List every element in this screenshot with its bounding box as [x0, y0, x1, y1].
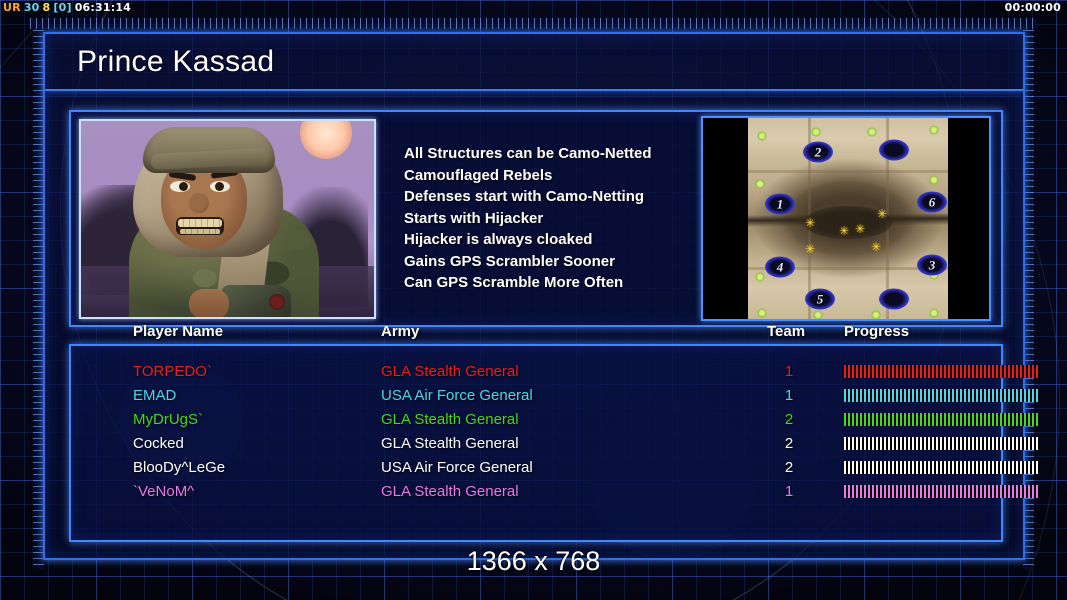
- player-army-cell: GLA Stealth General: [381, 480, 519, 504]
- map-supply-dock: [812, 128, 821, 137]
- player-progress-bar: [844, 389, 1040, 402]
- map-oil-derrick: ✳: [854, 223, 866, 235]
- map-oil-derrick: ✳: [876, 208, 888, 220]
- player-list-panel: Player Name Army Team Progress TORPEDO`G…: [69, 344, 1003, 542]
- map-start-position[interactable]: 1: [765, 194, 795, 215]
- resolution-label: 1366 x 768: [0, 548, 1067, 575]
- bonus-line: Can GPS Scramble More Often: [404, 272, 701, 294]
- player-team-cell: 1: [774, 360, 804, 384]
- table-row: CockedGLA Stealth General2: [71, 432, 1001, 456]
- map-preview: ✳✳✳✳✳✳216435: [701, 116, 991, 321]
- bonus-line: All Structures can be Camo-Netted: [404, 143, 701, 165]
- player-progress-fill: [844, 389, 1040, 402]
- player-name-cell: BlooDy^LeGe: [133, 456, 225, 480]
- map-oil-derrick: ✳: [838, 225, 850, 237]
- map-start-position[interactable]: 4: [765, 256, 795, 277]
- player-team-cell: 2: [774, 456, 804, 480]
- hud-timer: 00:00:00: [1005, 0, 1061, 15]
- map-supply-dock: [758, 308, 767, 317]
- map-supply-dock: [758, 132, 767, 141]
- general-bonus-list: All Structures can be Camo-Netted Camouf…: [404, 143, 701, 294]
- hud-tag: UR: [3, 1, 21, 14]
- general-portrait: [79, 119, 376, 319]
- map-start-position[interactable]: [879, 140, 909, 161]
- map-supply-dock: [756, 180, 765, 189]
- column-header-player-name: Player Name: [133, 319, 223, 344]
- player-progress-fill: [844, 365, 1040, 378]
- player-army-cell: USA Air Force General: [381, 456, 533, 480]
- column-header-team: Team: [767, 319, 805, 344]
- player-name-cell: TORPEDO`: [133, 360, 212, 384]
- table-row: `VeNoM^GLA Stealth General1: [71, 480, 1001, 504]
- page-title: Prince Kassad: [77, 47, 274, 77]
- player-name-cell: EMAD: [133, 384, 176, 408]
- map-supply-dock: [930, 176, 939, 185]
- portrait-teeth-upper: [178, 219, 222, 227]
- hud-left-group: UR308[0]06:31:14: [3, 0, 134, 15]
- portrait-mouth: [176, 217, 224, 235]
- portrait-nose: [189, 193, 209, 213]
- bonus-line: Defenses start with Camo-Netting: [404, 186, 701, 208]
- hud-clock: 06:31:14: [75, 1, 131, 14]
- map-start-position[interactable]: [879, 288, 909, 309]
- ruler-top: [30, 18, 1037, 29]
- map-oil-derrick: ✳: [804, 243, 816, 255]
- player-progress-bar: [844, 413, 1040, 426]
- bonus-line: Starts with Hijacker: [404, 208, 701, 230]
- player-progress-fill: [844, 413, 1040, 426]
- map-start-position[interactable]: 2: [803, 142, 833, 163]
- hud-value-1: 30: [24, 1, 40, 14]
- player-name-cell: MyDrUgS`: [133, 408, 203, 432]
- player-team-cell: 2: [774, 408, 804, 432]
- general-info-panel: All Structures can be Camo-Netted Camouf…: [69, 110, 1003, 327]
- player-army-cell: USA Air Force General: [381, 384, 533, 408]
- map-supply-dock: [756, 272, 765, 281]
- bonus-line: Gains GPS Scrambler Sooner: [404, 251, 701, 273]
- table-row: BlooDy^LeGeUSA Air Force General2: [71, 456, 1001, 480]
- table-row: TORPEDO`GLA Stealth General1: [71, 360, 1001, 384]
- player-name-cell: Cocked: [133, 432, 184, 456]
- player-name-cell: `VeNoM^: [133, 480, 194, 504]
- map-oil-derrick: ✳: [804, 217, 816, 229]
- player-progress-fill: [844, 437, 1040, 450]
- player-progress-bar: [844, 365, 1040, 378]
- table-row: MyDrUgS`GLA Stealth General2: [71, 408, 1001, 432]
- player-army-cell: GLA Stealth General: [381, 408, 519, 432]
- map-supply-dock: [868, 128, 877, 137]
- player-team-cell: 2: [774, 432, 804, 456]
- table-row: EMADUSA Air Force General1: [71, 384, 1001, 408]
- player-progress-bar: [844, 461, 1040, 474]
- hud-bracket: [0]: [53, 1, 71, 14]
- title-strip: Prince Kassad: [45, 34, 1023, 91]
- player-army-cell: GLA Stealth General: [381, 432, 519, 456]
- portrait-eye-right: [210, 181, 230, 192]
- player-army-cell: GLA Stealth General: [381, 360, 519, 384]
- hud-bar: UR308[0]06:31:14 00:00:00: [0, 0, 1067, 15]
- map-supply-dock: [930, 308, 939, 317]
- map-supply-dock: [930, 126, 939, 135]
- player-team-cell: 1: [774, 480, 804, 504]
- bonus-line: Hijacker is always cloaked: [404, 229, 701, 251]
- map-seam: [748, 170, 948, 173]
- portrait-hand: [189, 289, 229, 319]
- player-progress-fill: [844, 461, 1040, 474]
- player-team-cell: 1: [774, 384, 804, 408]
- portrait-weapon: [221, 285, 291, 319]
- player-progress-bar: [844, 485, 1040, 498]
- map-start-position[interactable]: 3: [917, 254, 947, 275]
- column-header-army: Army: [381, 319, 419, 344]
- hud-value-2: 8: [43, 1, 51, 14]
- map-start-position[interactable]: 5: [805, 288, 835, 309]
- player-progress-fill: [844, 485, 1040, 498]
- loading-screen-frame: Prince Kassad: [43, 32, 1025, 560]
- column-header-progress: Progress: [844, 319, 909, 344]
- map-start-position[interactable]: 6: [917, 192, 947, 213]
- portrait-eye-left: [170, 181, 190, 192]
- player-progress-bar: [844, 437, 1040, 450]
- map-oil-derrick: ✳: [870, 241, 882, 253]
- map-terrain: ✳✳✳✳✳✳216435: [748, 118, 948, 319]
- portrait-teeth-lower: [180, 229, 220, 234]
- bonus-line: Camouflaged Rebels: [404, 165, 701, 187]
- player-list-header: Player Name Army Team Progress: [71, 319, 1001, 344]
